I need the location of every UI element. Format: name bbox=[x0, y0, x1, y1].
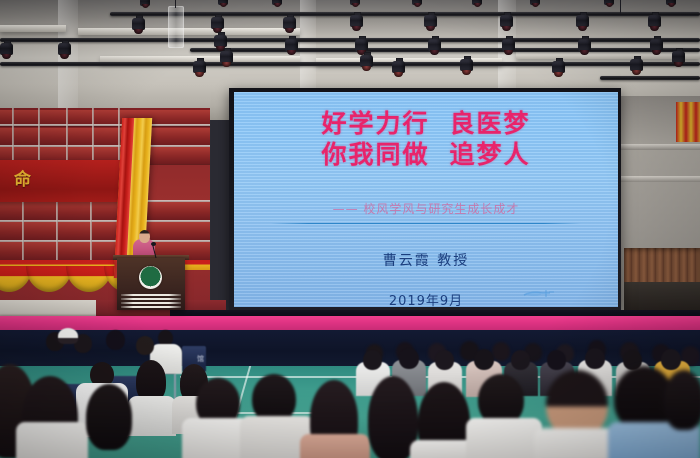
stage-light bbox=[604, 0, 614, 7]
light-truss-bar-5 bbox=[600, 76, 700, 80]
bleacher-rail bbox=[0, 124, 210, 126]
slide-title: 好学力行良医梦 你我同做追梦人 bbox=[234, 108, 618, 170]
bleacher-post bbox=[12, 108, 14, 168]
stage-light bbox=[193, 58, 206, 77]
person-torso bbox=[16, 422, 88, 458]
stage-light bbox=[424, 12, 437, 31]
slide-date: 2019年9月 bbox=[234, 290, 618, 307]
wall-pillar-left bbox=[58, 0, 78, 120]
person-head bbox=[661, 349, 681, 370]
title-phrase-1: 好学力行 bbox=[321, 109, 429, 138]
slide-presenter-name: 曹云霞 教授 bbox=[234, 250, 618, 270]
podium-stripe bbox=[121, 302, 181, 304]
person-head bbox=[399, 348, 419, 369]
stage-light bbox=[218, 0, 228, 7]
audience-member bbox=[128, 360, 176, 430]
podium-stripe bbox=[121, 294, 181, 296]
stage-light bbox=[211, 14, 224, 33]
stage-light bbox=[428, 36, 441, 55]
title-phrase-4: 追梦人 bbox=[450, 140, 531, 169]
person-torso bbox=[300, 434, 370, 458]
rig-cable-2 bbox=[620, 0, 621, 14]
hanging-glass-fixture bbox=[168, 6, 184, 48]
slide-subtitle: —— 校风学风与研究生成长成才 bbox=[234, 200, 618, 217]
speaker-podium bbox=[117, 258, 185, 310]
stage-light bbox=[350, 12, 363, 31]
stage-light bbox=[552, 58, 565, 77]
lecture-hall-photo: 命 好学力行良医梦 你我同做追梦人 —— 校风学风与研究生成长成才 曹云霞 教授… bbox=[0, 0, 700, 458]
stage-light bbox=[630, 56, 643, 75]
stage-light bbox=[350, 0, 360, 7]
wall-ledge-mid bbox=[78, 28, 300, 35]
stage-light bbox=[578, 36, 591, 55]
person-torso bbox=[128, 396, 176, 436]
bleacher-row bbox=[0, 202, 210, 220]
bleacher-rail bbox=[0, 220, 210, 222]
stage-light bbox=[285, 36, 298, 55]
stage-light bbox=[530, 0, 540, 7]
bleacher-post bbox=[66, 108, 68, 166]
person-head bbox=[585, 348, 605, 369]
stage-light bbox=[672, 48, 685, 67]
bleacher-post bbox=[90, 200, 92, 260]
person-head bbox=[136, 336, 154, 355]
rig-cable-1 bbox=[175, 0, 176, 8]
stage-light bbox=[412, 0, 422, 7]
chair-label: 馆 bbox=[197, 356, 204, 363]
person-head bbox=[511, 350, 530, 370]
stage-light bbox=[132, 15, 145, 34]
light-truss-bar-4 bbox=[190, 48, 700, 52]
light-truss-bar-2 bbox=[0, 38, 700, 42]
right-wall-shadow bbox=[624, 282, 700, 312]
person-hair bbox=[86, 384, 132, 450]
stage-light bbox=[472, 0, 482, 7]
stage-light bbox=[58, 40, 71, 59]
university-crest-icon bbox=[139, 266, 162, 289]
bleacher-rail bbox=[0, 240, 210, 242]
bleacher-rail bbox=[0, 145, 210, 147]
person-head bbox=[435, 350, 454, 370]
stage-light bbox=[283, 14, 296, 33]
stage-light bbox=[0, 40, 13, 59]
person-hair bbox=[664, 370, 700, 430]
stage-light bbox=[650, 36, 663, 55]
bleacher-post bbox=[22, 200, 24, 262]
person-head bbox=[106, 330, 125, 350]
bleacher-row bbox=[0, 222, 210, 240]
stage-light bbox=[220, 48, 233, 67]
light-truss-bar-3 bbox=[0, 62, 700, 66]
audience-area: 馆 馆 bbox=[0, 318, 700, 458]
microphone-head bbox=[151, 242, 156, 246]
person-head bbox=[547, 350, 566, 370]
stage-light bbox=[360, 52, 373, 71]
light-truss-bar-1 bbox=[110, 12, 700, 16]
person-head bbox=[492, 342, 510, 361]
bleacher-post bbox=[56, 200, 58, 262]
podium-stripe bbox=[121, 306, 181, 308]
bleacher-post bbox=[38, 108, 40, 168]
slide-content: 好学力行良医梦 你我同做追梦人 —— 校风学风与研究生成长成才 曹云霞 教授 2… bbox=[234, 108, 618, 307]
stage-light bbox=[272, 0, 282, 7]
speaker-head bbox=[139, 230, 150, 243]
stage-light bbox=[460, 56, 473, 75]
bleacher-post bbox=[92, 108, 94, 166]
slide-divider-rule bbox=[271, 223, 581, 224]
stage-light bbox=[666, 0, 676, 7]
wall-ledge-left bbox=[0, 25, 66, 32]
banner-character: 命 bbox=[14, 172, 31, 189]
institution-watermark-icon bbox=[522, 288, 556, 299]
stage-light bbox=[576, 12, 589, 31]
stage-light bbox=[500, 12, 513, 31]
title-phrase-2: 良医梦 bbox=[450, 109, 531, 138]
red-wall-banner: 命 bbox=[0, 160, 130, 202]
stage-light bbox=[392, 58, 405, 77]
person-head bbox=[474, 349, 494, 370]
person-torso bbox=[466, 418, 542, 458]
person-head-with-cap bbox=[58, 328, 78, 344]
led-presentation-screen[interactable]: 好学力行良医梦 你我同做追梦人 —— 校风学风与研究生成长成才 曹云霞 教授 2… bbox=[234, 92, 618, 307]
bleacher-row bbox=[0, 128, 210, 145]
stage-light bbox=[140, 0, 150, 8]
stage-light bbox=[502, 36, 515, 55]
drape-swag bbox=[26, 266, 72, 292]
podium-stripe bbox=[121, 298, 181, 300]
title-phrase-3: 你我同做 bbox=[321, 140, 429, 169]
right-wall-ledge-2 bbox=[618, 176, 700, 182]
slide-title-line-2: 你我同做追梦人 bbox=[234, 139, 618, 170]
slide-title-line-1: 好学力行良医梦 bbox=[234, 108, 618, 139]
stage-light bbox=[648, 12, 661, 31]
right-wall-drape bbox=[676, 102, 700, 142]
person-head bbox=[363, 350, 382, 370]
